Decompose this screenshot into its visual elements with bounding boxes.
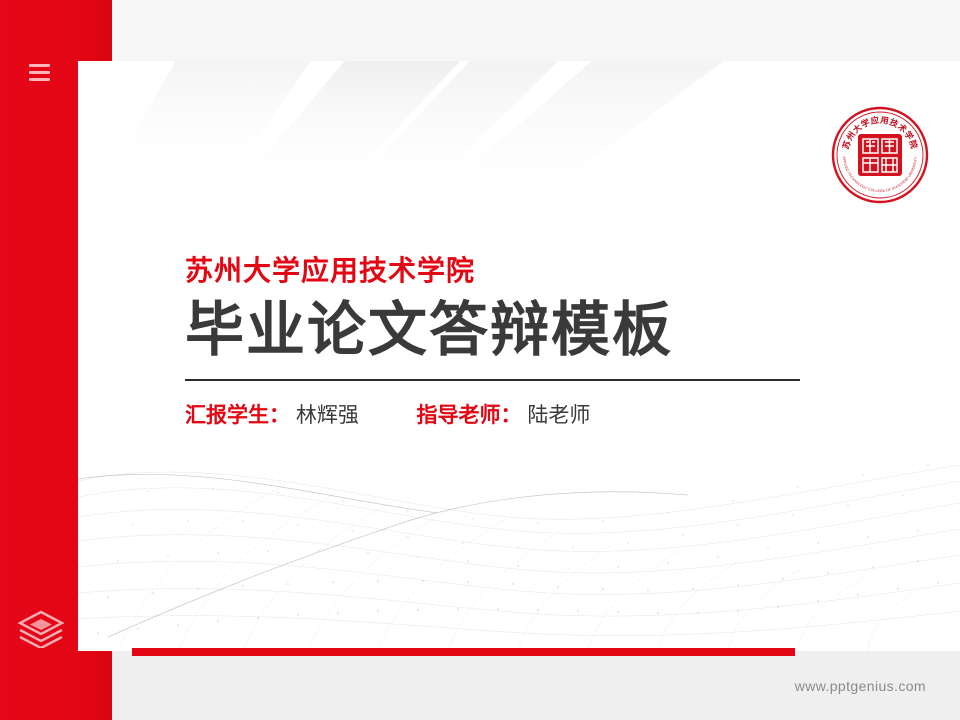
hamburger-line <box>29 64 50 67</box>
stacked-layers-icon[interactable] <box>16 608 66 648</box>
presenter-info: 汇报学生： 林辉强 指导老师： 陆老师 <box>185 403 885 428</box>
slide-canvas: 苏州大学应用技术学院 APPLIED TECHNOLOGY COLLEGE OF… <box>78 61 960 651</box>
advisor-label: 指导老师： <box>417 404 522 427</box>
slide-viewer: 苏州大学应用技术学院 APPLIED TECHNOLOGY COLLEGE OF… <box>0 0 960 720</box>
page-title: 毕业论文答辩模板 <box>185 297 885 363</box>
hamburger-menu-icon[interactable] <box>29 64 50 81</box>
hamburger-line <box>29 78 50 81</box>
footer-url[interactable]: www.pptgenius.com <box>795 678 926 694</box>
university-seal: 苏州大学应用技术学院 APPLIED TECHNOLOGY COLLEGE OF… <box>830 105 930 205</box>
decorative-ribbons <box>78 61 960 261</box>
hamburger-line <box>29 71 50 74</box>
title-block: 苏州大学应用技术学院 毕业论文答辩模板 汇报学生： 林辉强 指导老师： 陆老师 <box>185 256 885 428</box>
decorative-mesh-wave <box>78 421 960 651</box>
reporter-name: 林辉强 <box>296 404 359 427</box>
bottom-accent-bar <box>132 648 795 656</box>
university-name: 苏州大学应用技术学院 <box>185 256 885 287</box>
reporter-label: 汇报学生： <box>185 404 290 427</box>
advisor-name: 陆老师 <box>527 404 590 427</box>
title-divider <box>185 379 800 381</box>
